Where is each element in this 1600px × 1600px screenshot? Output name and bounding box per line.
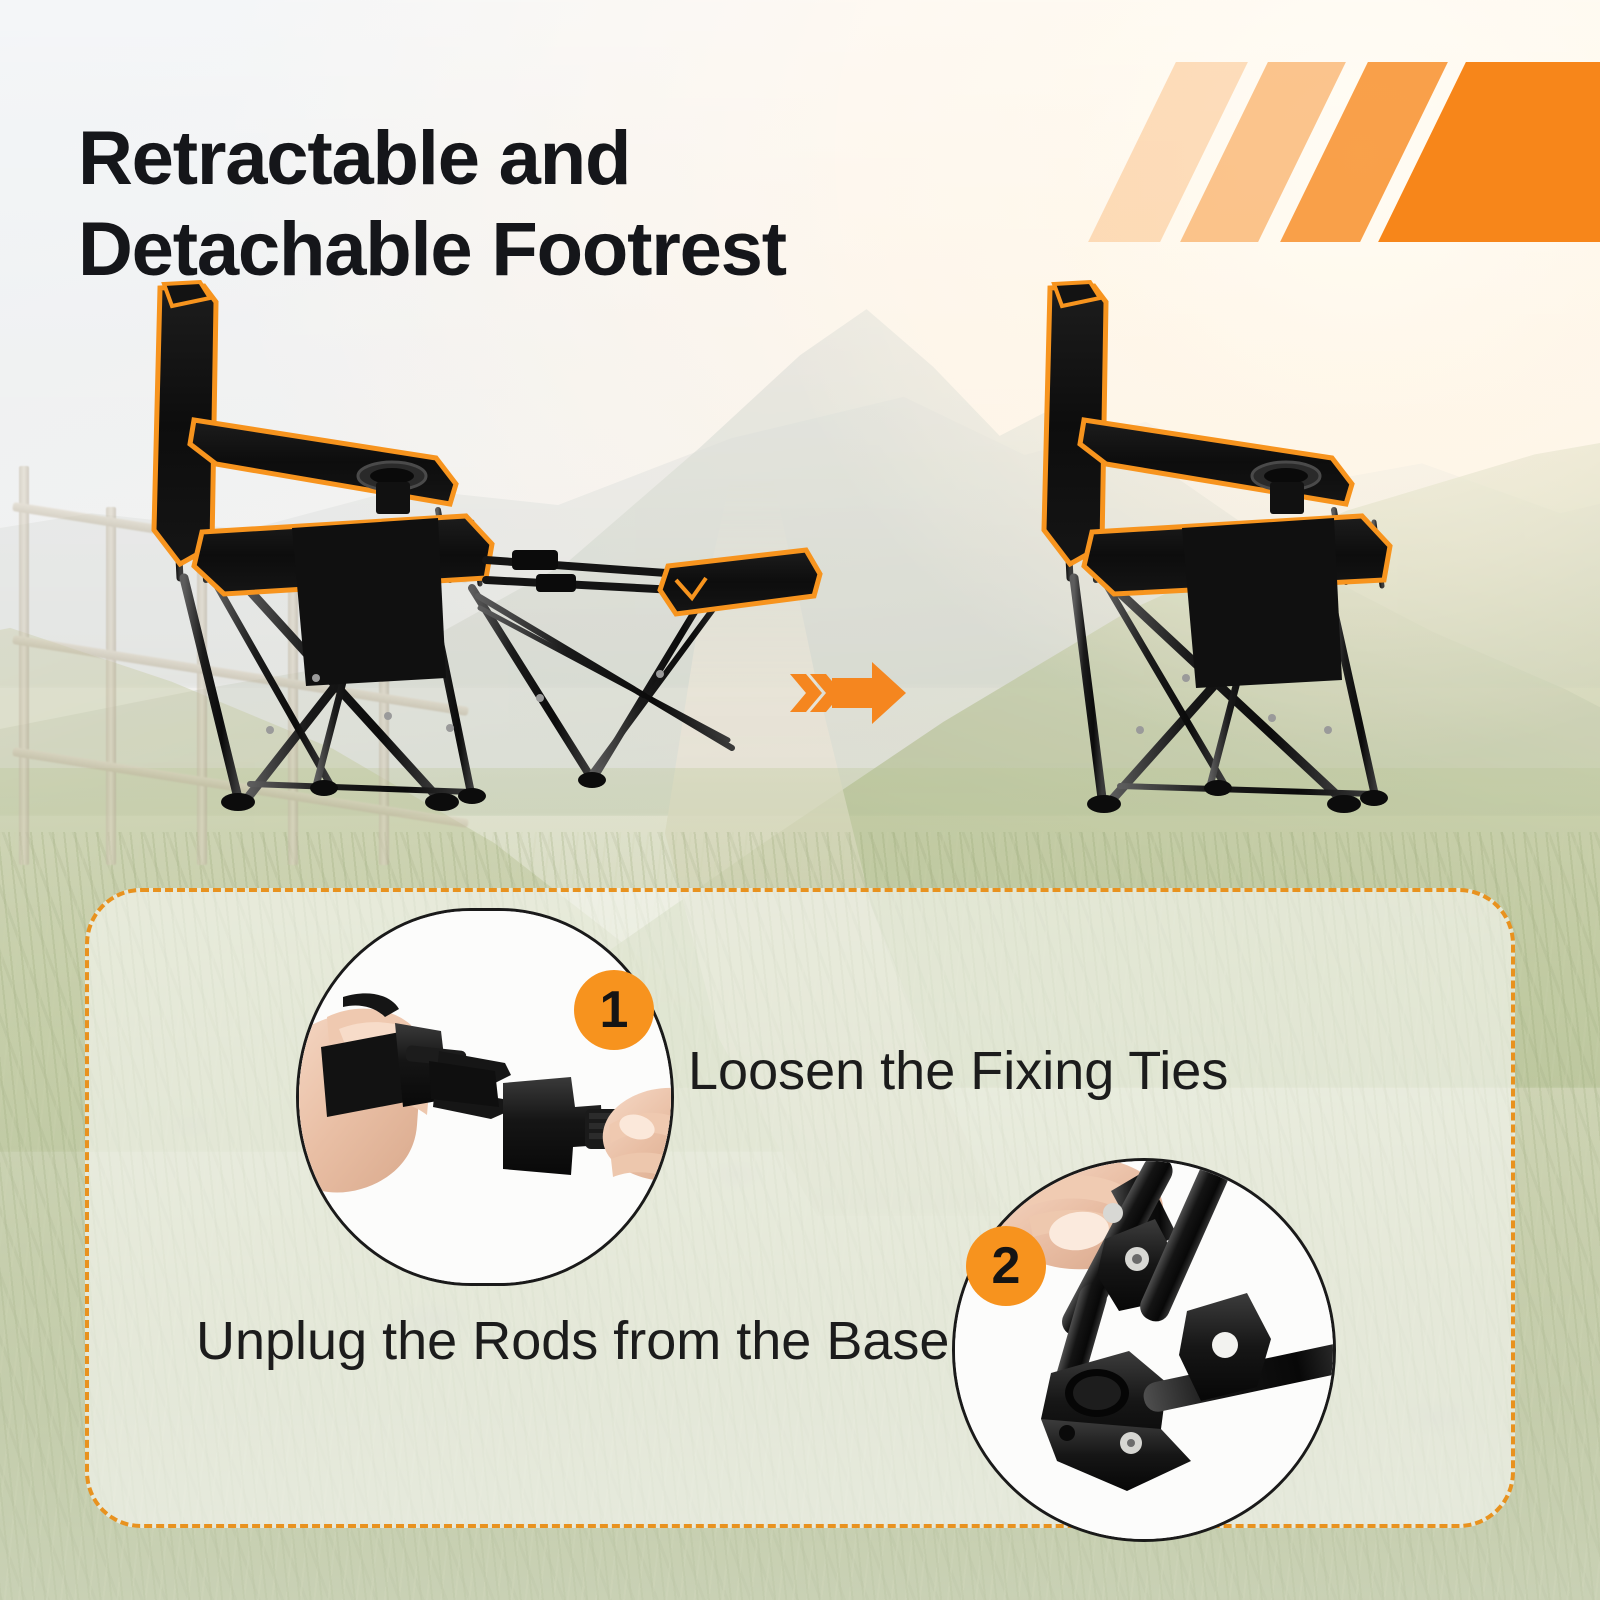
camping-chair-with-footrest [120, 278, 820, 823]
step-2-caption: Unplug the Rods from the Base [196, 1312, 949, 1371]
headline-line-1: Retractable and [78, 116, 630, 201]
product-feature-banner: Retractable and Detachable Footrest [0, 0, 1600, 1600]
step-1-caption: Loosen the Fixing Ties [688, 1042, 1228, 1101]
corner-stripe-decoration [1080, 62, 1600, 242]
step-1-badge: 1 [574, 970, 654, 1050]
page-title: Retractable and Detachable Footrest [78, 113, 1078, 295]
step-2-badge: 2 [966, 1226, 1046, 1306]
step-1-photo-buckle [296, 908, 674, 1286]
step-2-photo-rod-base [952, 1158, 1336, 1542]
arrow-right-icon [788, 660, 908, 726]
camping-chair-without-footrest [1010, 278, 1440, 823]
